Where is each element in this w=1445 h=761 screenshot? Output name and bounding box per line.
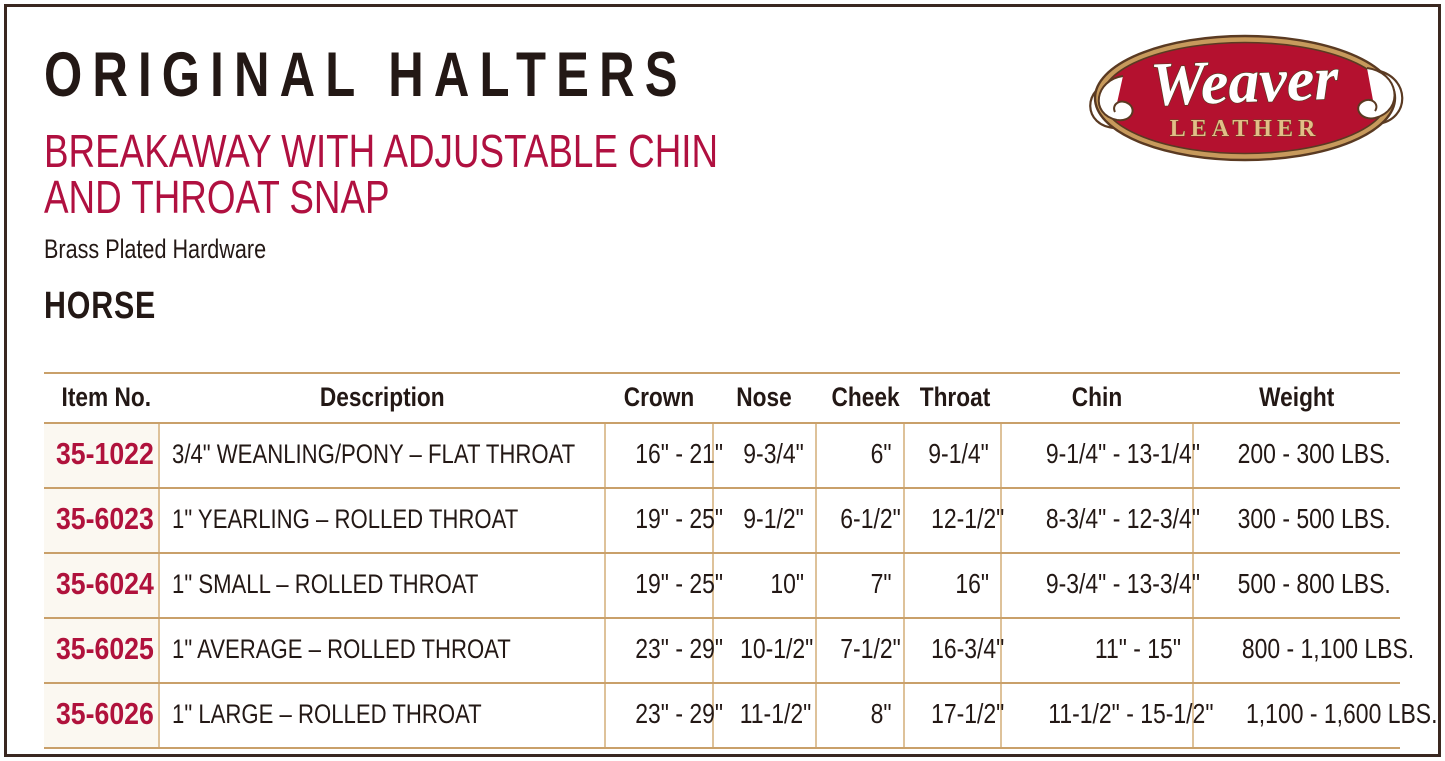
cell-throat-text: 16-3/4"	[931, 633, 1004, 665]
cell-item-no[interactable]: 35-6024	[44, 553, 159, 618]
cell-cheek: 8"	[816, 683, 904, 748]
halter-spec-table: Item No. Description Crown Nose Cheek Th…	[44, 372, 1400, 749]
cell-description: 1" LARGE – ROLLED THROAT	[159, 683, 605, 748]
cell-crown: 23" - 29"	[605, 618, 713, 683]
cell-chin: 9-3/4" - 13-3/4"	[1001, 553, 1193, 618]
column-header-chin-label: Chin	[1072, 382, 1122, 413]
column-header-nose: Nose	[713, 373, 816, 423]
cell-weight-text: 500 - 800 LBS.	[1238, 568, 1391, 600]
logo-sub-wordmark: LEATHER	[1170, 116, 1321, 142]
cell-cheek-text: 6"	[871, 438, 892, 470]
cell-chin-text: 11-1/2" - 15-1/2"	[1048, 698, 1213, 730]
cell-throat-text: 16"	[955, 568, 989, 600]
cell-nose: 9-3/4"	[713, 423, 816, 488]
weaver-leather-logo: Weaver LEATHER	[1071, 18, 1419, 178]
table-row: 35-60231" YEARLING – ROLLED THROAT19" - …	[44, 488, 1400, 553]
cell-item-no-text: 35-6024	[56, 566, 154, 602]
column-header-throat-label: Throat	[920, 382, 991, 413]
cell-item-no-text: 35-1022	[56, 436, 154, 472]
cell-weight: 1,100 - 1,600 LBS.	[1193, 683, 1400, 748]
column-header-nose-label: Nose	[737, 382, 792, 413]
cell-crown: 19" - 25"	[605, 488, 713, 553]
cell-nose: 10"	[713, 553, 816, 618]
table-row: 35-60241" SMALL – ROLLED THROAT19" - 25"…	[44, 553, 1400, 618]
column-header-item-no: Item No.	[44, 373, 159, 423]
cell-crown-text: 19" - 25"	[635, 568, 723, 600]
cell-description: 1" SMALL – ROLLED THROAT	[159, 553, 605, 618]
column-header-throat: Throat	[904, 373, 1001, 423]
cell-weight: 200 - 300 LBS.	[1193, 423, 1400, 488]
column-header-item-no-label: Item No.	[62, 382, 151, 413]
cell-throat: 12-1/2"	[904, 488, 1001, 553]
cell-throat: 9-1/4"	[904, 423, 1001, 488]
cell-crown: 19" - 25"	[605, 553, 713, 618]
cell-crown-text: 19" - 25"	[635, 503, 723, 535]
column-header-weight-label: Weight	[1259, 382, 1334, 413]
cell-chin: 9-1/4" - 13-1/4"	[1001, 423, 1193, 488]
cell-description: 1" AVERAGE – ROLLED THROAT	[159, 618, 605, 683]
cell-weight: 300 - 500 LBS.	[1193, 488, 1400, 553]
header-block: ORIGINAL HALTERS BREAKAWAY WITH ADJUSTAB…	[44, 44, 1084, 328]
cell-item-no[interactable]: 35-6026	[44, 683, 159, 748]
cell-nose-text: 9-1/2"	[744, 503, 804, 535]
cell-chin-text: 9-3/4" - 13-3/4"	[1046, 568, 1200, 600]
cell-nose-text: 10"	[770, 568, 804, 600]
table-row: 35-60261" LARGE – ROLLED THROAT23" - 29"…	[44, 683, 1400, 748]
cell-weight-text: 800 - 1,100 LBS.	[1242, 633, 1414, 665]
cell-description-text: 1" LARGE – ROLLED THROAT	[172, 699, 482, 730]
cell-item-no[interactable]: 35-6025	[44, 618, 159, 683]
table-header: Item No. Description Crown Nose Cheek Th…	[44, 373, 1400, 423]
cell-throat-text: 17-1/2"	[931, 698, 1004, 730]
column-header-description: Description	[159, 373, 605, 423]
cell-weight-text: 300 - 500 LBS.	[1238, 503, 1391, 535]
product-subtitle: BREAKAWAY WITH ADJUSTABLE CHIN AND THROA…	[44, 129, 876, 220]
cell-cheek: 6"	[816, 423, 904, 488]
column-header-cheek-label: Cheek	[831, 382, 899, 413]
cell-cheek-text: 7"	[871, 568, 892, 600]
cell-chin-text: 9-1/4" - 13-1/4"	[1046, 438, 1200, 470]
cell-nose: 11-1/2"	[713, 683, 816, 748]
cell-throat-text: 12-1/2"	[931, 503, 1004, 535]
cell-item-no-text: 35-6026	[56, 696, 154, 732]
category-label: HORSE	[44, 285, 876, 328]
cell-description: 3/4" WEANLING/PONY – FLAT THROAT	[159, 423, 605, 488]
column-header-cheek: Cheek	[816, 373, 904, 423]
cell-item-no-text: 35-6023	[56, 501, 154, 537]
logo-wordmark: Weaver	[1149, 45, 1340, 120]
cell-chin: 11-1/2" - 15-1/2"	[1001, 683, 1193, 748]
cell-throat: 17-1/2"	[904, 683, 1001, 748]
cell-crown-text: 16" - 21"	[635, 438, 723, 470]
cell-crown-text: 23" - 29"	[635, 698, 723, 730]
cell-nose-text: 10-1/2"	[740, 633, 813, 665]
cell-weight-text: 1,100 - 1,600 LBS.	[1246, 698, 1437, 730]
cell-chin-text: 11" - 15"	[1095, 633, 1181, 665]
cell-crown: 16" - 21"	[605, 423, 713, 488]
cell-nose-text: 11-1/2"	[740, 698, 812, 730]
cell-description: 1" YEARLING – ROLLED THROAT	[159, 488, 605, 553]
cell-cheek-text: 8"	[871, 698, 892, 730]
cell-description-text: 3/4" WEANLING/PONY – FLAT THROAT	[172, 439, 575, 470]
spec-sheet-page: ORIGINAL HALTERS BREAKAWAY WITH ADJUSTAB…	[0, 0, 1445, 761]
column-header-crown-label: Crown	[624, 382, 695, 413]
spec-table-container: Item No. Description Crown Nose Cheek Th…	[44, 372, 1400, 749]
cell-cheek-text: 6-1/2"	[840, 503, 900, 535]
hardware-note: Brass Plated Hardware	[44, 234, 876, 265]
column-header-crown: Crown	[605, 373, 713, 423]
cell-throat: 16"	[904, 553, 1001, 618]
cell-crown: 23" - 29"	[605, 683, 713, 748]
column-header-chin: Chin	[1001, 373, 1193, 423]
page-title: ORIGINAL HALTERS	[44, 44, 855, 107]
column-header-weight: Weight	[1193, 373, 1400, 423]
table-row: 35-60251" AVERAGE – ROLLED THROAT23" - 2…	[44, 618, 1400, 683]
cell-chin: 11" - 15"	[1001, 618, 1193, 683]
product-subtitle-line-2: AND THROAT SNAP	[44, 175, 876, 221]
cell-weight: 800 - 1,100 LBS.	[1193, 618, 1400, 683]
cell-nose: 10-1/2"	[713, 618, 816, 683]
cell-description-text: 1" SMALL – ROLLED THROAT	[172, 569, 478, 600]
cell-weight: 500 - 800 LBS.	[1193, 553, 1400, 618]
column-header-description-label: Description	[320, 382, 445, 413]
cell-item-no-text: 35-6025	[56, 631, 154, 667]
cell-chin: 8-3/4" - 12-3/4"	[1001, 488, 1193, 553]
cell-cheek: 7"	[816, 553, 904, 618]
table-row: 35-10223/4" WEANLING/PONY – FLAT THROAT1…	[44, 423, 1400, 488]
cell-weight-text: 200 - 300 LBS.	[1238, 438, 1391, 470]
cell-crown-text: 23" - 29"	[635, 633, 723, 665]
cell-description-text: 1" AVERAGE – ROLLED THROAT	[172, 634, 511, 665]
product-subtitle-line-1: BREAKAWAY WITH ADJUSTABLE CHIN	[44, 129, 876, 175]
cell-throat: 16-3/4"	[904, 618, 1001, 683]
cell-description-text: 1" YEARLING – ROLLED THROAT	[172, 504, 518, 535]
cell-cheek: 7-1/2"	[816, 618, 904, 683]
table-header-row: Item No. Description Crown Nose Cheek Th…	[44, 373, 1400, 423]
cell-item-no[interactable]: 35-6023	[44, 488, 159, 553]
cell-cheek-text: 7-1/2"	[840, 633, 900, 665]
cell-nose: 9-1/2"	[713, 488, 816, 553]
cell-throat-text: 9-1/4"	[929, 438, 989, 470]
cell-chin-text: 8-3/4" - 12-3/4"	[1046, 503, 1200, 535]
cell-nose-text: 9-3/4"	[744, 438, 804, 470]
table-body: 35-10223/4" WEANLING/PONY – FLAT THROAT1…	[44, 423, 1400, 748]
cell-item-no[interactable]: 35-1022	[44, 423, 159, 488]
cell-cheek: 6-1/2"	[816, 488, 904, 553]
